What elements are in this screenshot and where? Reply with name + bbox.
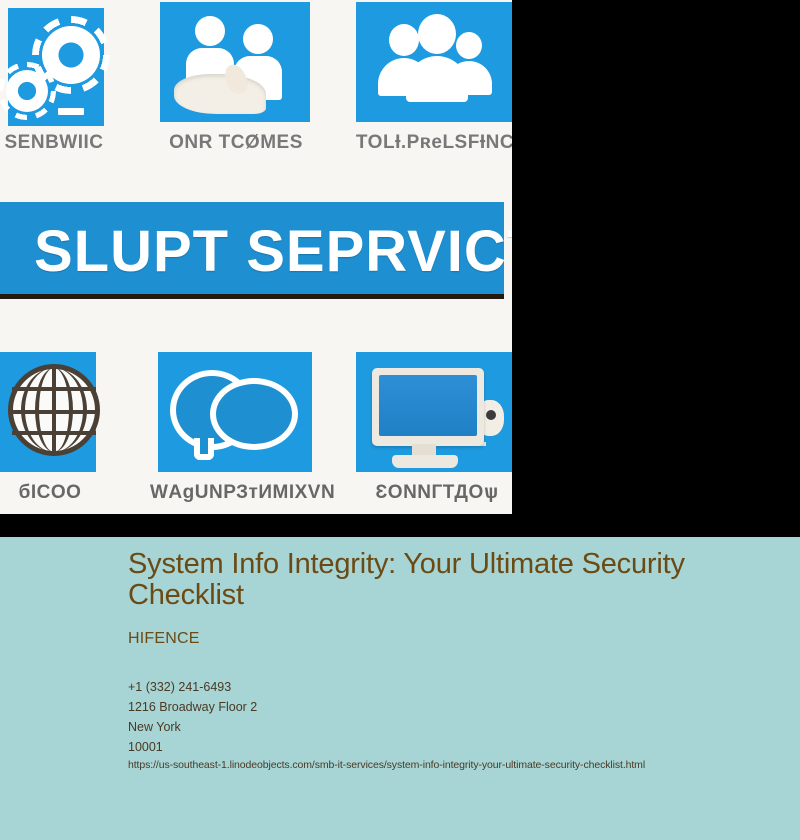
monitor-base-icon: [392, 455, 458, 468]
tile-communication: [158, 352, 312, 472]
monitor-screen-icon: [379, 375, 477, 436]
group-people-icon: [356, 2, 512, 122]
tile-team: [356, 2, 512, 122]
hero-banner-text: SLUPT SEPRVICT: [34, 218, 512, 285]
brand-name: HIFENCE: [128, 630, 200, 648]
speech-bubbles-icon: [158, 352, 312, 472]
hero-image: SENBWIIC ONR TCØMES: [0, 0, 512, 514]
tile-label-4: бІCOO: [0, 482, 110, 504]
tile-outcomes: [160, 2, 310, 122]
tile-label-6: ƐONNГТДOѱ: [352, 482, 512, 504]
contact-block: +1 (332) 241-6493 1216 Broadway Floor 2 …: [128, 677, 257, 757]
contact-phone: +1 (332) 241-6493: [128, 677, 257, 697]
tile-services: [8, 8, 104, 126]
speech-bubble-tail-icon: [194, 438, 214, 460]
tile-label-3: TOLƗ.PʀеLSFƗNC: [352, 132, 512, 154]
two-people-hand-icon: [160, 2, 310, 122]
globe-icon: [0, 352, 96, 472]
tile-hardware: [356, 352, 512, 472]
person-front-icon: [406, 14, 468, 100]
source-url[interactable]: https://us-southeast-1.linodeobjects.com…: [128, 759, 645, 771]
hand-icon: [174, 74, 266, 114]
tile-label-2: ONR TCØMES: [158, 132, 314, 154]
contact-zip: 10001: [128, 737, 257, 757]
info-panel: System Info Integrity: Your Ultimate Sec…: [0, 537, 800, 840]
computer-monitor-icon: [356, 352, 512, 472]
gears-icon: [8, 8, 104, 126]
monitor-frame-icon: [372, 368, 484, 446]
tile-label-1: SENBWIIC: [0, 132, 112, 154]
contact-street: 1216 Broadway Floor 2: [128, 697, 257, 717]
contact-city: New York: [128, 717, 257, 737]
page-title: System Info Integrity: Your Ultimate Sec…: [128, 549, 688, 611]
mouse-button-icon: [486, 410, 496, 420]
gear-bar-icon: [58, 108, 84, 115]
tile-global: [0, 352, 96, 472]
page-root: SENBWIIC ONR TCØMES: [0, 0, 800, 840]
tile-label-5: WАɡUNРЗтИMІХVN: [150, 482, 322, 504]
hero-banner: SLUPT SEPRVICT: [0, 202, 504, 294]
speech-bubble-front-icon: [210, 378, 298, 450]
globe-sphere-icon: [8, 364, 100, 456]
gear-small-icon: [6, 70, 48, 112]
hero-canvas: SENBWIIC ONR TCØMES: [0, 0, 512, 514]
